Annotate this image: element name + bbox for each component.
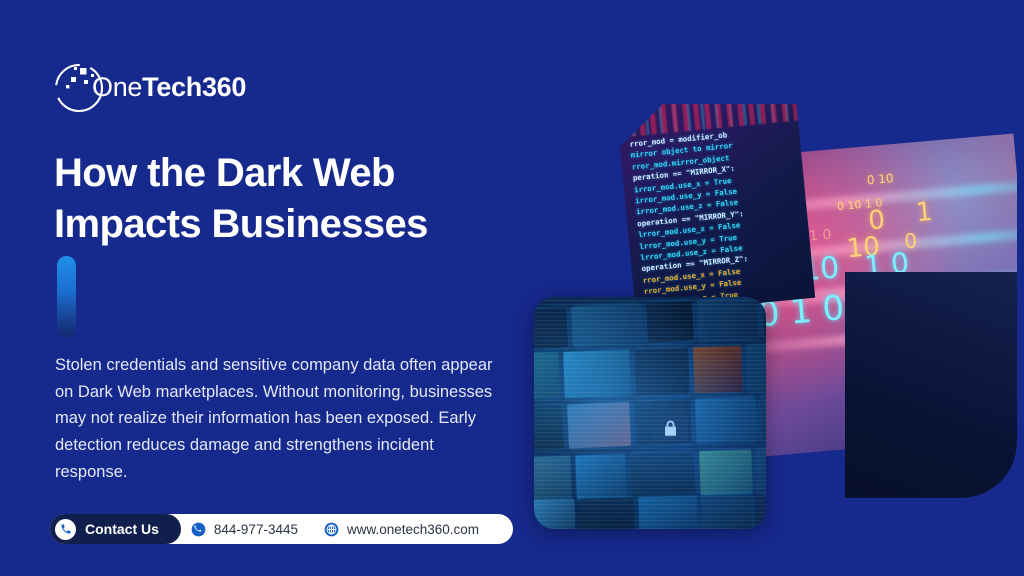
- headline-line-2: Impacts Businesses: [54, 202, 428, 246]
- globe-icon: [324, 522, 339, 537]
- body-paragraph: Stolen credentials and sensitive company…: [55, 352, 500, 486]
- media-tile-row: [534, 493, 766, 529]
- binary-row: 0: [867, 207, 886, 234]
- website-url: www.onetech360.com: [347, 522, 479, 537]
- website-contact[interactable]: www.onetech360.com: [324, 522, 479, 537]
- poster-canvas: OneTech360 How the Dark Web Impacts Busi…: [0, 0, 1024, 576]
- media-wall-photo: [534, 297, 766, 529]
- page-title: How the Dark Web Impacts Businesses: [54, 148, 524, 250]
- headline-line-1: How the Dark Web: [54, 151, 395, 195]
- source-code-layer: rror_mod = modifier_ob mirror object to …: [617, 86, 815, 315]
- phone-number: 844-977-3445: [214, 522, 298, 537]
- binary-row: 0 10: [866, 172, 894, 186]
- contact-bar: Contact Us 844-977-3445 www.onetech360.c…: [50, 514, 513, 544]
- media-tile-row: [534, 395, 766, 451]
- phone-contact[interactable]: 844-977-3445: [191, 522, 298, 537]
- brand-logo[interactable]: OneTech360: [50, 56, 250, 118]
- media-tile-row: [534, 344, 766, 399]
- phone-icon: [55, 519, 76, 540]
- logo-word-tech360: Tech360: [142, 72, 246, 102]
- binary-row: 1: [915, 199, 934, 226]
- logo-word-one: One: [92, 72, 142, 102]
- phone-icon: [191, 522, 206, 537]
- contact-us-button[interactable]: Contact Us: [50, 514, 181, 544]
- dark-panel-fill: [845, 272, 1017, 498]
- media-tile-row: [534, 448, 766, 501]
- logo-wordmark: OneTech360: [92, 72, 246, 103]
- padlock-icon: [652, 415, 688, 441]
- media-tile-row: [534, 297, 766, 350]
- contact-us-label: Contact Us: [85, 521, 159, 537]
- accent-divider-bar: [57, 256, 76, 338]
